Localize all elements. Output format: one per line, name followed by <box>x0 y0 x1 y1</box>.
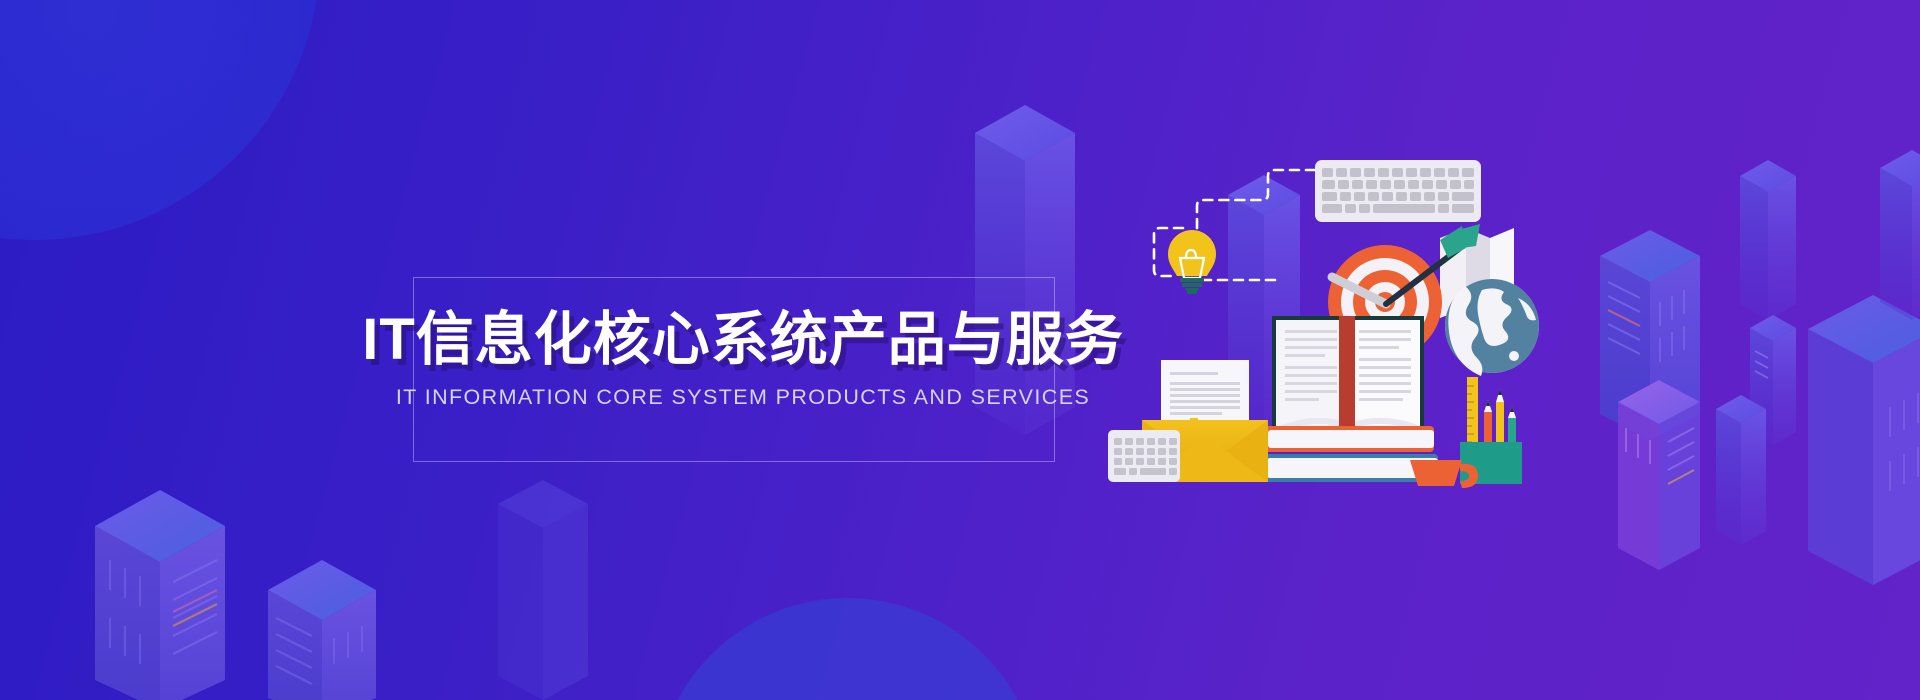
keyboard-small-icon <box>1108 430 1180 482</box>
building-left-short <box>268 560 376 700</box>
building-right-slim-c <box>1716 395 1766 545</box>
building-bottom-left-faint <box>498 480 588 700</box>
page-subtitle: IT INFORMATION CORE SYSTEM PRODUCTS AND … <box>348 385 1138 410</box>
hero-banner: IT信息化核心系统产品与服务 IT INFORMATION CORE SYSTE… <box>0 0 1920 700</box>
building-right-b <box>1618 380 1700 570</box>
building-right-a <box>1600 230 1700 440</box>
background-circle-bottom-center <box>655 598 1040 700</box>
globe-icon <box>1445 279 1539 376</box>
building-right-edge <box>1880 150 1920 320</box>
background-circle-top-left <box>0 0 320 240</box>
open-book-icon <box>1272 316 1424 442</box>
keyboard-icon <box>1315 160 1481 222</box>
building-right-slim-a <box>1740 160 1796 320</box>
page-title: IT信息化核心系统产品与服务 <box>348 310 1138 371</box>
book-stack-icon <box>1258 426 1438 482</box>
building-right-slim-b <box>1750 315 1796 445</box>
title-group: IT信息化核心系统产品与服务 IT INFORMATION CORE SYSTE… <box>348 310 1138 410</box>
building-left-tall <box>95 490 225 700</box>
hero-illustration <box>1110 130 1540 470</box>
building-right-wide <box>1808 295 1920 585</box>
lightbulb-icon <box>1168 230 1216 294</box>
